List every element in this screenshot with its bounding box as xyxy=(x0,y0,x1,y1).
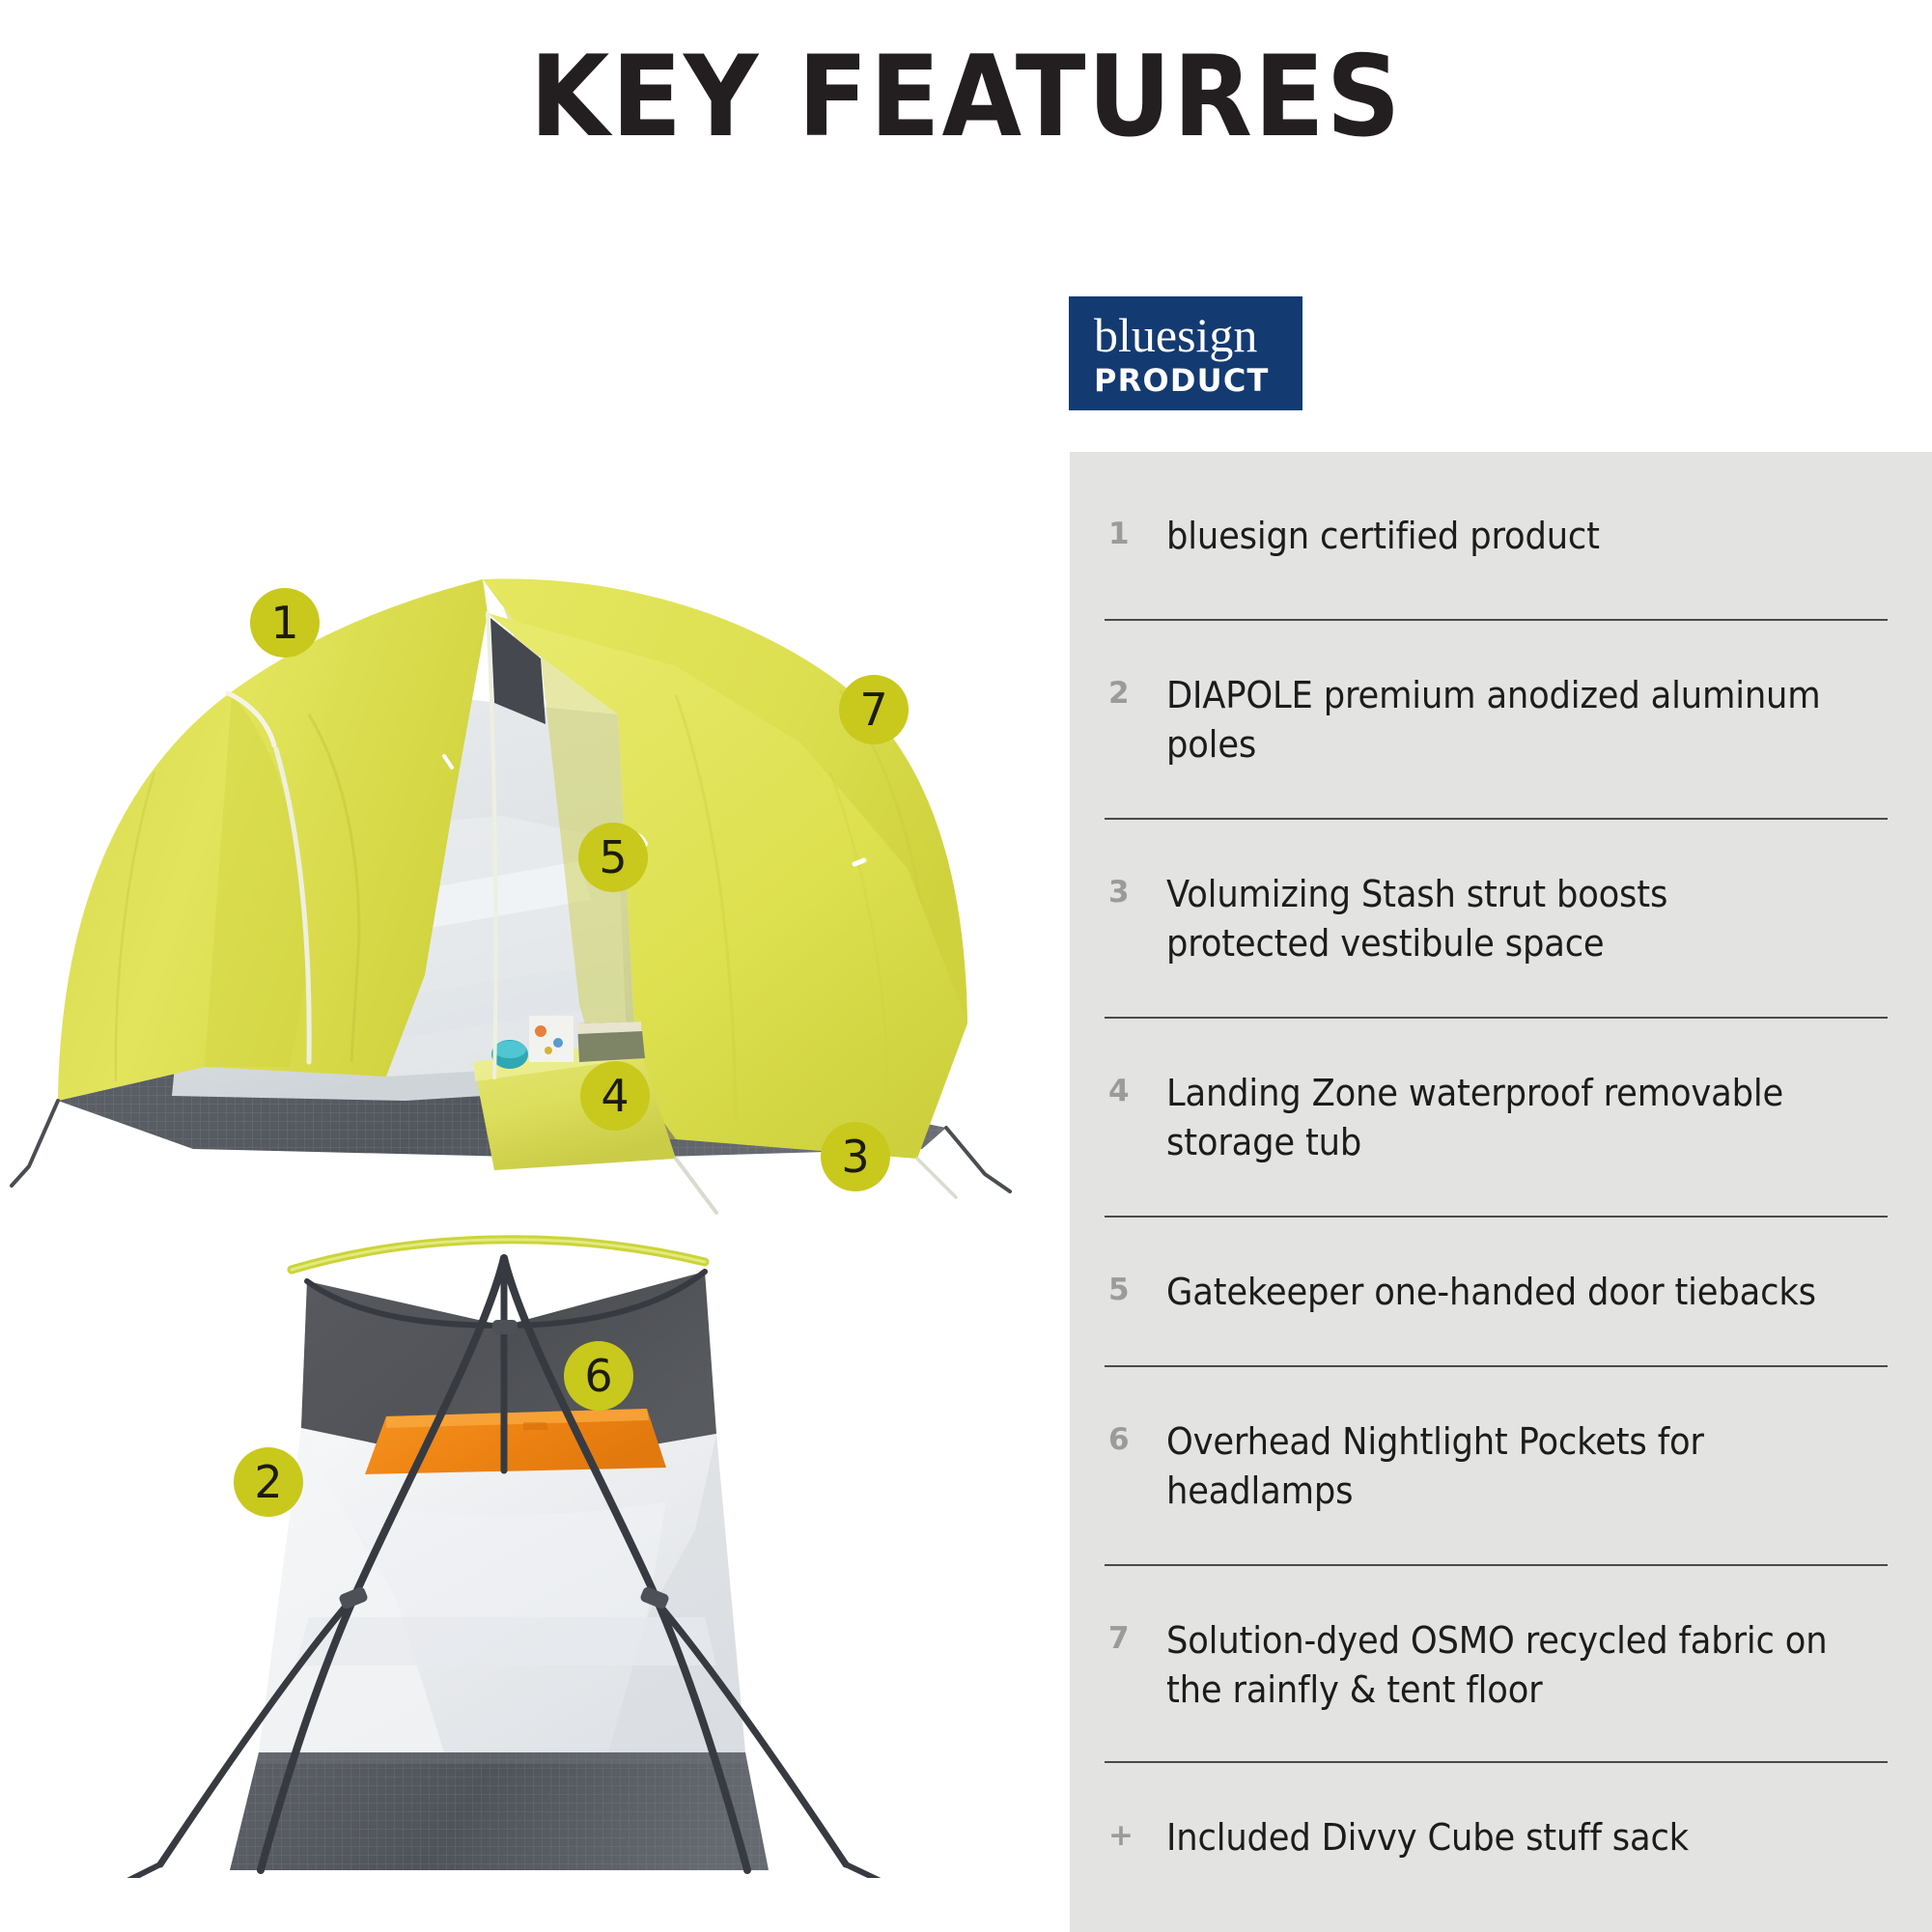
feature-label: DIAPOLE premium anodized aluminum poles xyxy=(1166,671,1837,770)
callout-badge-6[interactable]: 6 xyxy=(564,1341,633,1411)
callout-badge-7[interactable]: 7 xyxy=(839,675,909,744)
feature-item-1[interactable]: 1 bluesign certified product xyxy=(1070,452,1932,561)
feature-item-plus[interactable]: + Included Divvy Cube stuff sack xyxy=(1070,1763,1932,1862)
tent-body-illustration xyxy=(29,1212,946,1878)
feature-label: Landing Zone waterproof removable storag… xyxy=(1166,1069,1837,1167)
feature-number: + xyxy=(1105,1813,1166,1859)
callout-badge-2[interactable]: 2 xyxy=(234,1447,303,1517)
feature-number: 2 xyxy=(1105,671,1166,716)
callout-badge-5[interactable]: 5 xyxy=(578,823,648,892)
feature-item-5[interactable]: 5 Gatekeeper one-handed door tiebacks xyxy=(1070,1218,1932,1317)
feature-label: Solution-dyed OSMO recycled fabric on th… xyxy=(1166,1616,1837,1715)
feature-label: Gatekeeper one-handed door tiebacks xyxy=(1166,1268,1837,1317)
overhead-nightlight-pocket xyxy=(365,1409,666,1474)
feature-number: 4 xyxy=(1105,1069,1166,1114)
feature-number: 6 xyxy=(1105,1417,1166,1463)
callout-badge-3[interactable]: 3 xyxy=(821,1122,890,1191)
page-title: KEY FEATURES xyxy=(77,39,1855,156)
feature-item-3[interactable]: 3 Volumizing Stash strut boosts protecte… xyxy=(1070,820,1932,968)
key-features-infographic: KEY FEATURES bluesign PRODUCT xyxy=(0,0,1932,1932)
feature-number: 3 xyxy=(1105,870,1166,915)
callout-badge-4[interactable]: 4 xyxy=(580,1061,650,1131)
bluesign-product-label: PRODUCT xyxy=(1094,362,1302,399)
feature-number: 1 xyxy=(1105,512,1166,557)
feature-item-7[interactable]: 7 Solution-dyed OSMO recycled fabric on … xyxy=(1070,1566,1932,1715)
feature-item-4[interactable]: 4 Landing Zone waterproof removable stor… xyxy=(1070,1019,1932,1167)
feature-item-2[interactable]: 2 DIAPOLE premium anodized aluminum pole… xyxy=(1070,621,1932,770)
feature-label: Included Divvy Cube stuff sack xyxy=(1166,1813,1837,1862)
map-book xyxy=(529,1016,574,1062)
feature-label: bluesign certified product xyxy=(1166,512,1837,561)
feature-number: 7 xyxy=(1105,1616,1166,1662)
feature-number: 5 xyxy=(1105,1268,1166,1313)
tent-rainfly-illustration: NEMO EQUIPMENT DAGGER OSMO 2P xyxy=(0,521,1052,1217)
feature-label: Volumizing Stash strut boosts protected … xyxy=(1166,870,1837,968)
feature-list-panel: 1 bluesign certified product 2 DIAPOLE p… xyxy=(1070,452,1932,1932)
bathtub-floor xyxy=(230,1752,769,1870)
feature-label: Overhead Nightlight Pockets for headlamp… xyxy=(1166,1417,1837,1516)
callout-badge-1[interactable]: 1 xyxy=(250,588,320,658)
feature-item-6[interactable]: 6 Overhead Nightlight Pockets for headla… xyxy=(1070,1367,1932,1516)
tent-body-panel xyxy=(259,1428,745,1752)
bluesign-product-logo: bluesign PRODUCT xyxy=(1069,296,1302,410)
bluesign-wordmark: bluesign xyxy=(1094,308,1302,362)
